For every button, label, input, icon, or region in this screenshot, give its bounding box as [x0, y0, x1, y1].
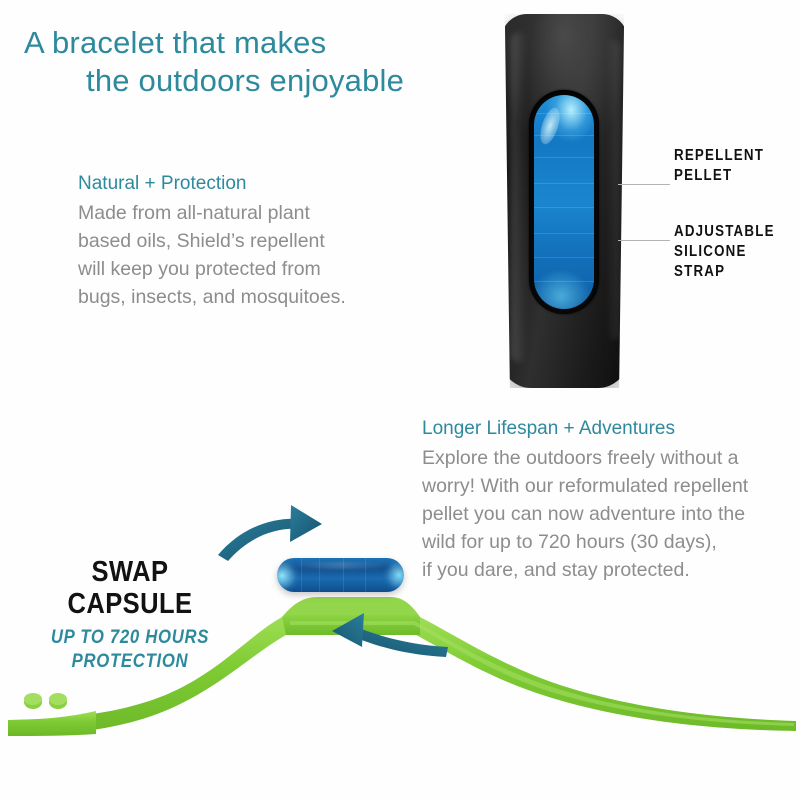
pellet-window-bezel [529, 90, 599, 314]
callout-repellent-pellet: REPELLENT PELLET [674, 146, 764, 186]
callout-adjustable-silicone-strap: ADJUSTABLE SILICONE STRAP [674, 222, 775, 282]
curved-arrow-up-icon [218, 505, 322, 561]
capsule-highlight [291, 562, 390, 569]
clasp-studs [24, 693, 67, 709]
feature-natural-protection: Natural + Protection Made from all-natur… [78, 172, 408, 311]
feature-title: Natural + Protection [78, 172, 408, 196]
feature-body: Made from all-natural plant based oils, … [78, 199, 408, 311]
feature-body-line: bugs, insects, and mosquitoes. [78, 283, 408, 311]
pellet-glow [537, 105, 564, 146]
green-strap-illustration [0, 495, 800, 800]
strap-band [8, 597, 796, 736]
product-infographic: A bracelet that makes the outdoors enjoy… [0, 0, 800, 800]
callout-line: REPELLENT [674, 146, 764, 166]
feature-body-line: Explore the outdoors freely without a [422, 444, 792, 472]
device-highlight-left [511, 32, 527, 362]
bracelet-device-image [501, 14, 628, 388]
page-title: A bracelet that makes the outdoors enjoy… [24, 24, 494, 100]
leader-line-repellent-pellet [618, 184, 670, 185]
feature-body-line: will keep you protected from [78, 255, 408, 283]
swap-capsule-pellet [277, 558, 404, 592]
feature-title: Longer Lifespan + Adventures [422, 417, 792, 441]
feature-body-line: Made from all-natural plant [78, 199, 408, 227]
feature-body-line: based oils, Shield’s repellent [78, 227, 408, 255]
callout-line: ADJUSTABLE [674, 222, 775, 242]
device-highlight-right [606, 40, 620, 340]
callout-line: STRAP [674, 262, 775, 282]
headline-line-1: A bracelet that makes [24, 24, 494, 62]
leader-line-adjustable-strap [618, 240, 670, 241]
repellent-pellet [534, 95, 594, 309]
callout-line: PELLET [674, 166, 764, 186]
headline-line-2: the outdoors enjoyable [24, 62, 494, 100]
callout-line: SILICONE [674, 242, 775, 262]
